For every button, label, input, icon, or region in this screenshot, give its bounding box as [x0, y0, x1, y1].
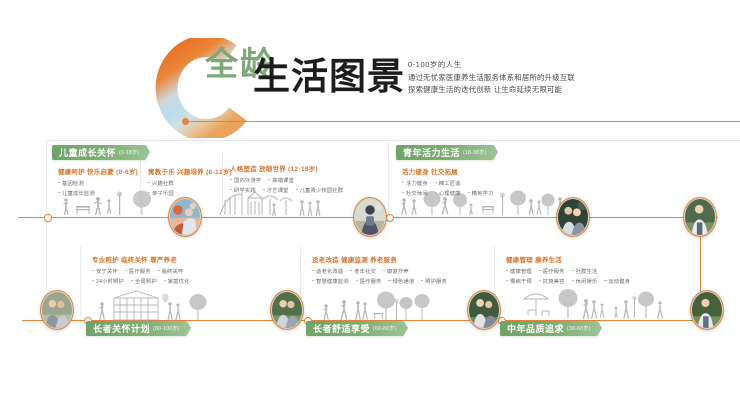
block-row: 24小时照护 全周照护 家庭优化	[92, 277, 190, 285]
banner-middle-age-age: (38-60岁)	[567, 325, 591, 332]
block-item: 休闲娱乐	[572, 277, 598, 285]
photo-elder-couple[interactable]	[40, 290, 74, 330]
block-item: 适老化改造	[312, 267, 343, 275]
block-item: 临终关怀	[158, 267, 184, 275]
banner-senior-care[interactable]: 长者关怀计划 (80-100岁)	[86, 321, 187, 336]
block-item: 照护服务	[421, 277, 447, 285]
block-row: 基因检测	[58, 179, 138, 187]
block-item: 儿童青少校园社群	[296, 186, 344, 194]
block-item: 安宁关怀	[92, 267, 118, 275]
block-item: 儿童成长监测	[58, 189, 95, 197]
block-senior-comfort: 适老改造 健康监测 养老服务 适老化改造 老年社交 康复疗养 智慧健康监测 医疗…	[312, 255, 447, 285]
block-item: 医疗服务	[356, 277, 382, 285]
banner-youth-age: (18-38岁)	[463, 149, 487, 156]
block-item: 老年社交	[350, 267, 376, 275]
block-item: 精工匠造	[435, 179, 461, 187]
block-item: 活力健身	[402, 179, 428, 187]
block-item: 才艺课堂	[263, 186, 289, 194]
block-item: 心理健康	[435, 189, 461, 197]
block-row: 儿童成长监测	[58, 189, 138, 197]
banner-youth-title: 青年活力生活	[403, 146, 460, 159]
block-item: 24小时照护	[92, 277, 124, 285]
banner-children-age: (0-18岁)	[119, 149, 139, 156]
block-item: 智慧健康监测	[312, 277, 349, 285]
desc-line-2: 通过无忧家医康养生活服务体系和居所的升级互联	[408, 72, 618, 85]
block-head: 人格塑造 放眼世界 (12-18岁)	[230, 164, 343, 173]
block-item: 全周照护	[131, 277, 157, 285]
banner-middle-age[interactable]: 中年品质追求 (38-60岁)	[500, 321, 598, 336]
block-row: 适老化改造 老年社交 康复疗养	[312, 267, 447, 275]
block-item: 医疗服务	[125, 267, 151, 275]
block-middle-age: 健康管理 康养生活 健康管理 医疗服务 社群生活 慢病干预 抗衰美容 休闲娱乐 …	[506, 255, 630, 285]
block-senior-care: 专业照护 临终关怀 尊严养老 安宁关怀 医疗服务 临终关怀 24小时照护 全周照…	[92, 255, 190, 285]
block-head: 健康呵护 快乐启蒙 (0-6岁)	[58, 167, 138, 176]
block-item: 高端课堂	[268, 176, 294, 184]
photo-young-adult[interactable]	[683, 197, 717, 237]
scene-senior-comfort	[318, 288, 436, 322]
desc-line-3: 探索健康生活的迭代创新 让生命延续无限可能	[408, 84, 618, 97]
banner-middle-age-title: 中年品质追求	[507, 322, 564, 335]
block-item: 慢病干预	[506, 277, 532, 285]
block-item: 基因检测	[58, 179, 84, 187]
photo-middle-friends[interactable]	[467, 290, 501, 330]
infographic-root: 全龄 生活图景 0-100岁的人生 通过无忧家医康养生活服务体系和居所的升级互联…	[0, 0, 740, 416]
block-head: 适老改造 健康监测 养老服务	[312, 255, 447, 264]
header-description: 0-100岁的人生 通过无忧家医康养生活服务体系和居所的升级互联 探索健康生活的…	[408, 59, 618, 97]
block-row: 兴趣社群	[148, 179, 232, 187]
block-row: 智慧健康监测 医疗服务 绿色通道 照护服务	[312, 277, 447, 285]
block-item: 社交休闲	[402, 189, 428, 197]
block-youth-0: 活力健身 社交拓展 活力健身 精工匠造 社交休闲 心理健康 精英学习	[402, 167, 493, 197]
block-item: 抗衰美容	[539, 277, 565, 285]
block-row: 亲子乐园	[148, 189, 232, 197]
block-item: 医疗服务	[539, 267, 565, 275]
header: 全龄 生活图景 0-100岁的人生 通过无忧家医康养生活服务体系和居所的升级互联…	[0, 0, 740, 140]
banner-senior-comfort[interactable]: 长者舒适享受 (60-80岁)	[306, 321, 404, 336]
desc-line-1: 0-100岁的人生	[408, 59, 618, 72]
block-row: 健康管理 医疗服务 社群生活	[506, 267, 630, 275]
banner-children[interactable]: 儿童成长关怀 (0-18岁)	[52, 145, 146, 160]
divider-youth	[388, 140, 389, 214]
block-row: 慢病干预 抗衰美容 休闲娱乐 运动健身	[506, 277, 630, 285]
block-row: 研学实践 才艺课堂 儿童青少校园社群	[230, 186, 343, 194]
scene-senior-care	[94, 288, 212, 322]
banner-senior-comfort-age: (60-80岁)	[373, 325, 397, 332]
block-row: 活力健身 精工匠造	[402, 179, 493, 187]
block-item: 运动健身	[604, 277, 630, 285]
page-title: 生活图景	[253, 58, 405, 95]
block-item: 兴趣社群	[148, 179, 174, 187]
block-item: 国内外游学	[230, 176, 261, 184]
block-item: 亲子乐园	[148, 189, 174, 197]
photo-elderly-pair[interactable]	[270, 290, 304, 330]
block-item: 研学实践	[230, 186, 256, 194]
divider-bottom-left	[80, 246, 81, 326]
photo-senior-walk[interactable]	[690, 290, 724, 330]
block-children-2: 人格塑造 放眼世界 (12-18岁) 国内外游学 高端课堂 研学实践 才艺课堂 …	[230, 164, 343, 194]
block-item: 绿色通道	[388, 277, 414, 285]
block-children-0: 健康呵护 快乐启蒙 (0-6岁) 基因检测 儿童成长监测	[58, 167, 138, 197]
block-item: 康复疗养	[383, 267, 409, 275]
photo-teen-student[interactable]	[353, 197, 387, 237]
banner-senior-care-title: 长者关怀计划	[93, 322, 150, 335]
banner-children-title: 儿童成长关怀	[59, 146, 116, 159]
banner-senior-care-age: (80-100岁)	[153, 325, 180, 332]
block-row: 安宁关怀 医疗服务 临终关怀	[92, 267, 190, 275]
timeline-node-left	[44, 214, 52, 222]
photo-youth-couple[interactable]	[556, 197, 590, 237]
block-row: 社交休闲 心理健康 精英学习	[402, 189, 493, 197]
block-head: 活力健身 社交拓展	[402, 167, 493, 176]
banner-youth[interactable]: 青年活力生活 (18-38岁)	[396, 145, 494, 160]
block-item: 社群生活	[572, 267, 598, 275]
banner-senior-comfort-title: 长者舒适享受	[313, 322, 370, 335]
photo-children-play[interactable]	[168, 197, 202, 237]
scene-middle-age	[520, 286, 670, 322]
block-row: 国内外游学 高端课堂	[230, 176, 343, 184]
block-item: 精英学习	[468, 189, 494, 197]
timeline-node-youth	[386, 214, 394, 222]
header-rule	[188, 121, 740, 122]
block-item: 家庭优化	[164, 277, 190, 285]
block-head: 寓教于乐 兴趣培养 (6-12岁)	[148, 167, 232, 176]
block-children-1: 寓教于乐 兴趣培养 (6-12岁) 兴趣社群 亲子乐园	[148, 167, 232, 197]
block-head: 健康管理 康养生活	[506, 255, 630, 264]
block-head: 专业照护 临终关怀 尊严养老	[92, 255, 190, 264]
divider-top-bar	[46, 140, 740, 141]
block-item: 健康管理	[506, 267, 532, 275]
